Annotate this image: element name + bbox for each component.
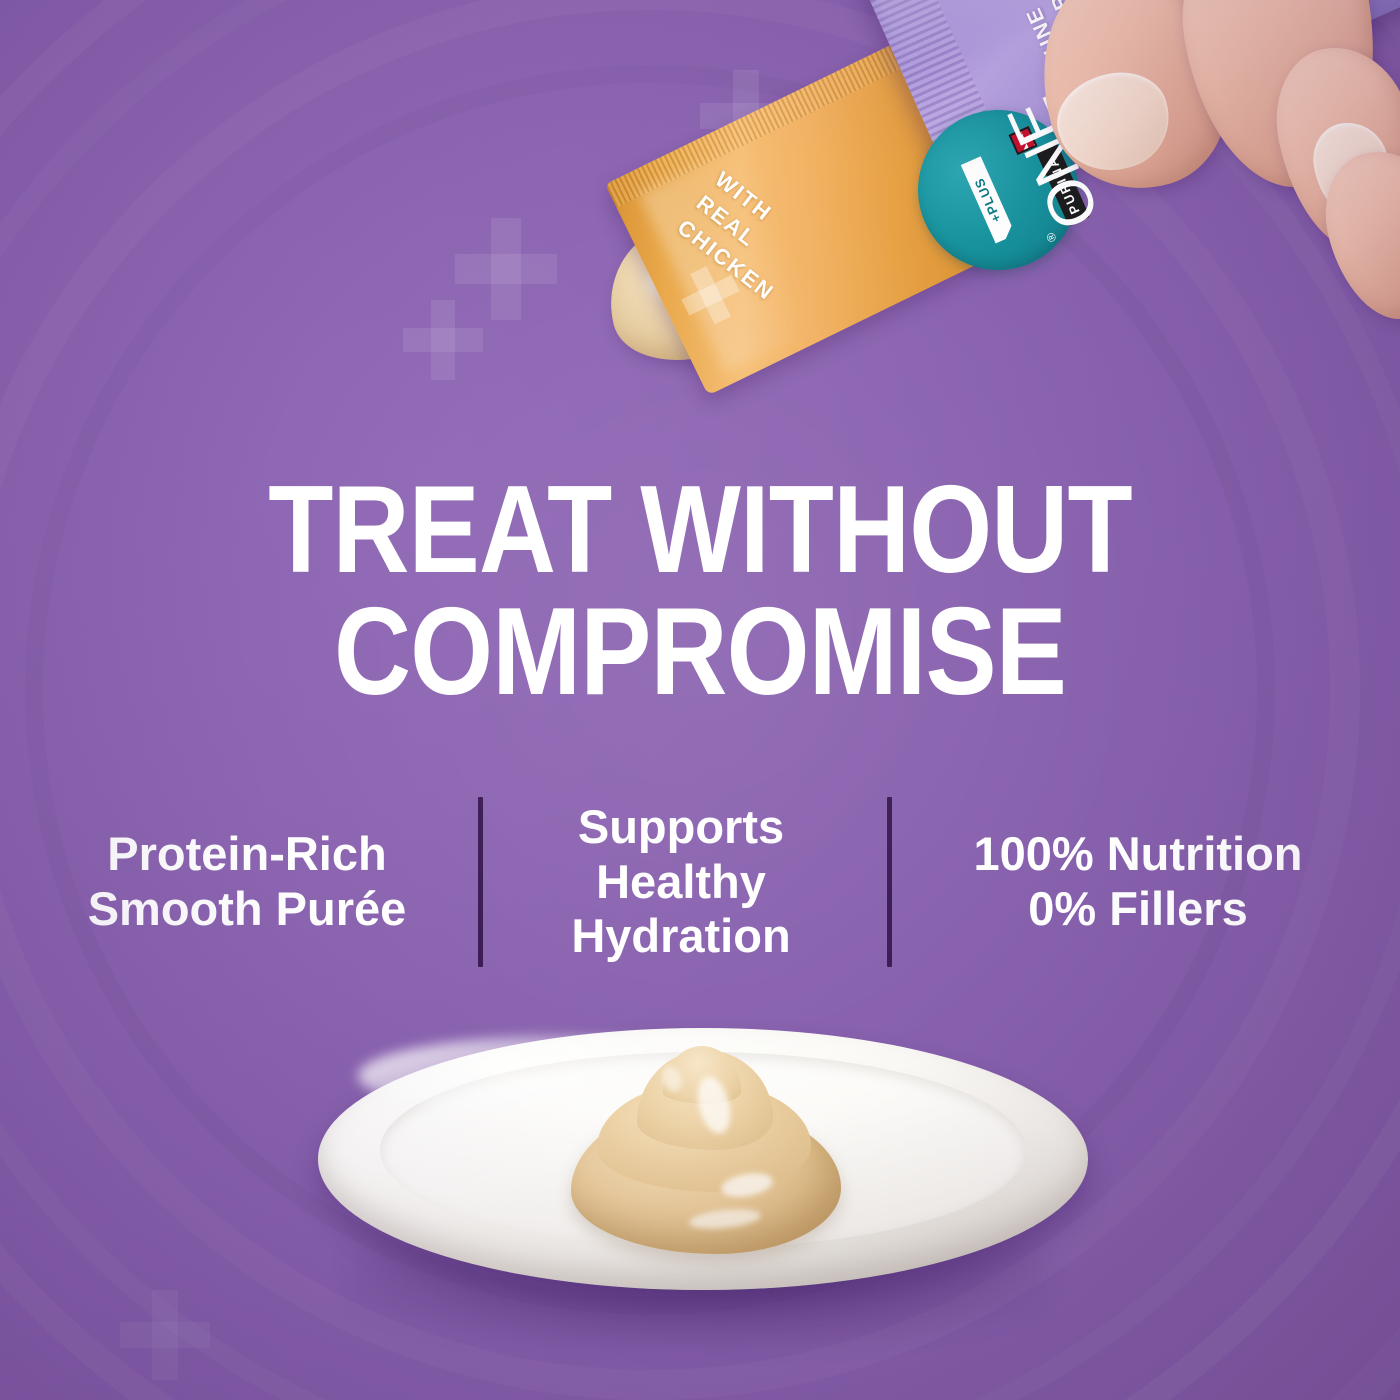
promo-banner: WITH REAL CHICKEN IMMUNE SUPPORT® Purées… — [0, 0, 1400, 1400]
background-vignette — [0, 0, 1400, 1400]
